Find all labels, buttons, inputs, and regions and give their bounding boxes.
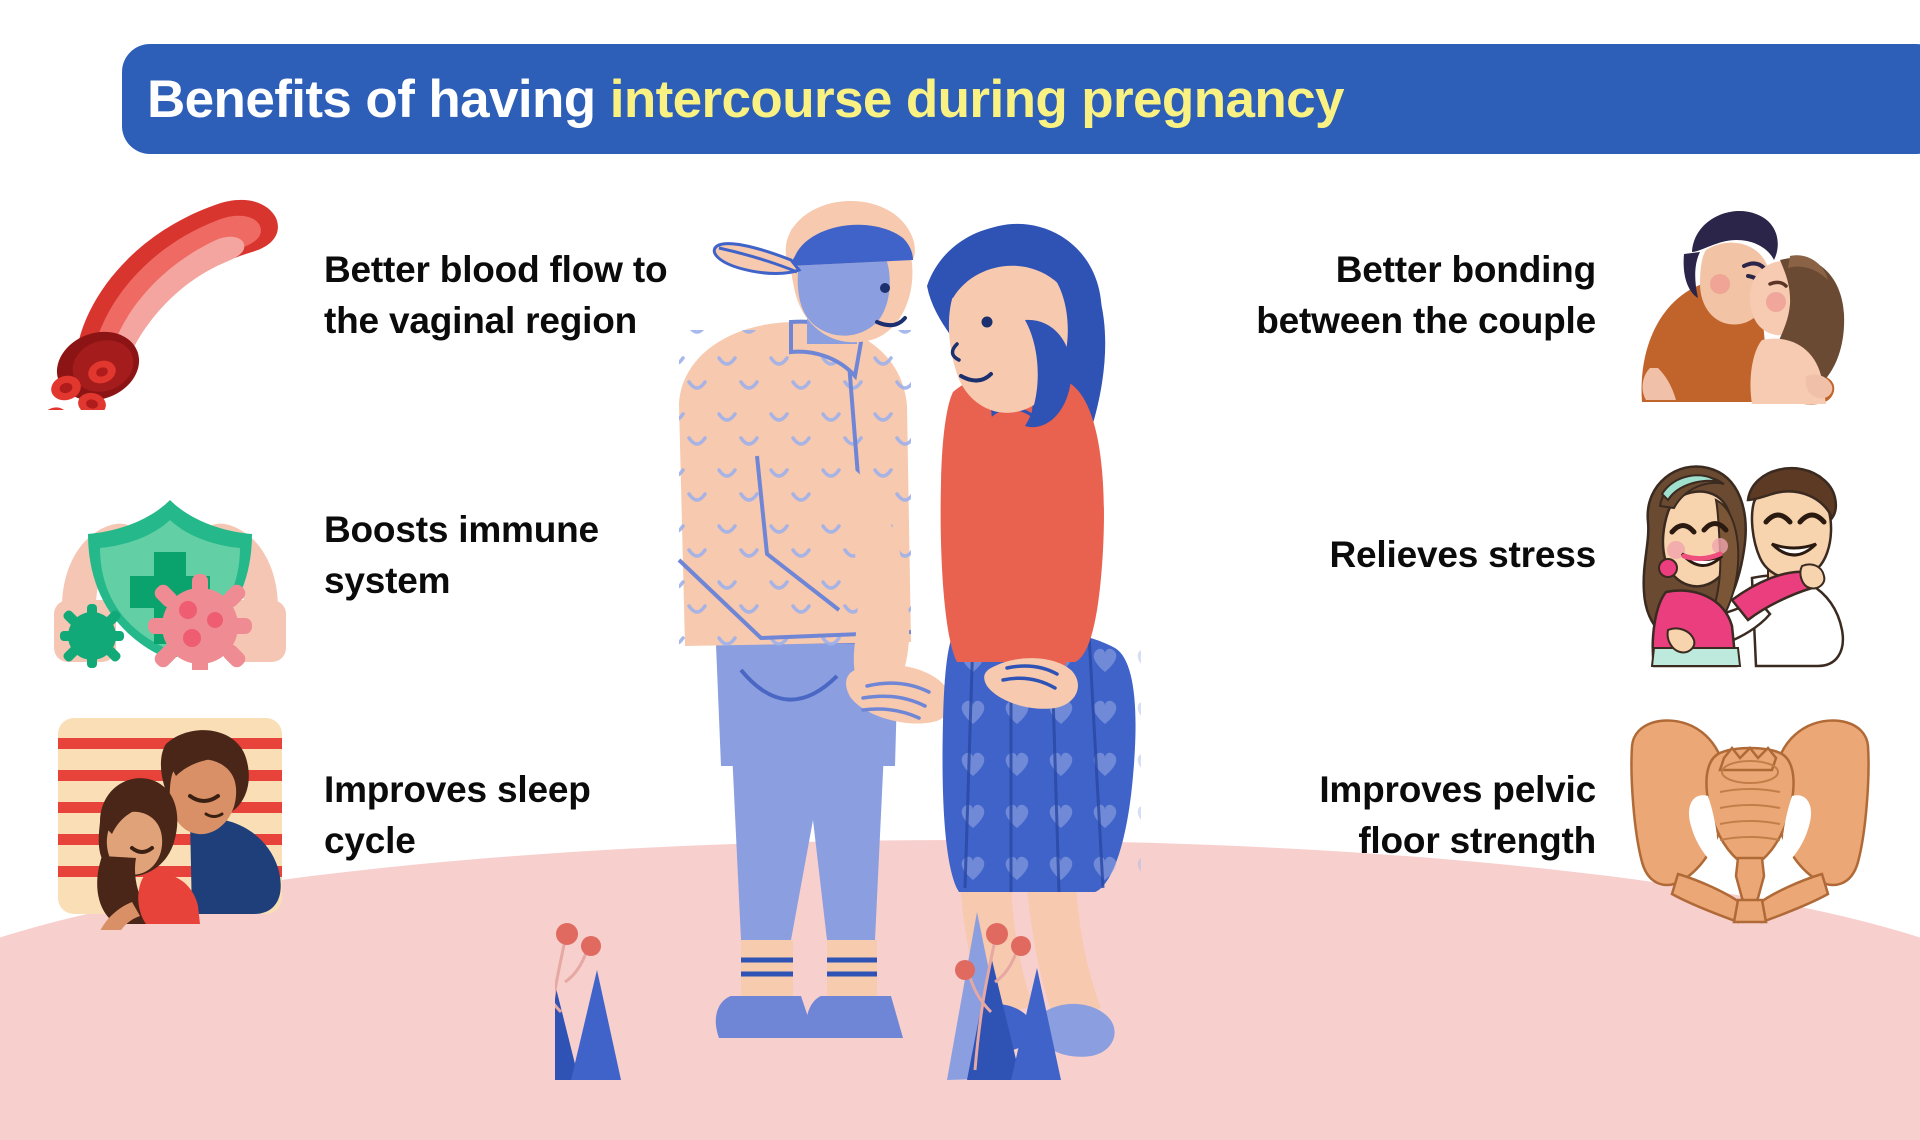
pelvis-bone-icon	[1620, 700, 1880, 930]
benefit-label-line1: Better blood flow to	[324, 244, 794, 295]
benefit-item-pelvic: Improves pelvic floor strength	[1126, 700, 1880, 930]
title-banner: Benefits of having intercourse during pr…	[122, 44, 1920, 154]
sleeping-couple-icon	[40, 700, 300, 930]
benefit-label-bonding: Better bonding between the couple	[1126, 244, 1596, 346]
benefit-item-stress: Relieves stress	[1126, 440, 1880, 670]
benefit-label-line2: system	[324, 555, 794, 606]
page-title-plain: Benefits of having	[147, 70, 610, 129]
benefit-label-blood-flow: Better blood flow to the vaginal region	[324, 244, 794, 346]
benefit-label-line1: Improves pelvic	[1126, 764, 1596, 815]
blood-vessel-icon	[40, 180, 300, 410]
benefit-item-bonding: Better bonding between the couple	[1126, 180, 1880, 410]
benefit-label-line1: Boosts immune	[324, 504, 794, 555]
benefit-label-line1: Better bonding	[1126, 244, 1596, 295]
benefit-item-sleep: Improves sleep cycle	[40, 700, 794, 930]
page-title-accent: intercourse during pregnancy	[610, 70, 1344, 129]
immune-shield-icon	[40, 440, 300, 670]
page-title: Benefits of having intercourse during pr…	[147, 73, 1344, 126]
benefit-label-line2: the vaginal region	[324, 295, 794, 346]
benefit-label-line1: Improves sleep	[324, 764, 794, 815]
benefit-label-immune: Boosts immune system	[324, 504, 794, 606]
benefit-item-immune: Boosts immune system	[40, 440, 794, 670]
kissing-couple-icon	[1620, 180, 1880, 410]
benefit-label-stress: Relieves stress	[1126, 529, 1596, 580]
benefit-label-line1: Relieves stress	[1126, 529, 1596, 580]
happy-couple-icon	[1620, 440, 1880, 670]
benefit-label-line2: between the couple	[1126, 295, 1596, 346]
benefit-item-blood-flow: Better blood flow to the vaginal region	[40, 180, 794, 410]
benefit-label-pelvic: Improves pelvic floor strength	[1126, 764, 1596, 866]
benefit-label-line2: floor strength	[1126, 815, 1596, 866]
benefit-label-sleep: Improves sleep cycle	[324, 764, 794, 866]
benefit-label-line2: cycle	[324, 815, 794, 866]
